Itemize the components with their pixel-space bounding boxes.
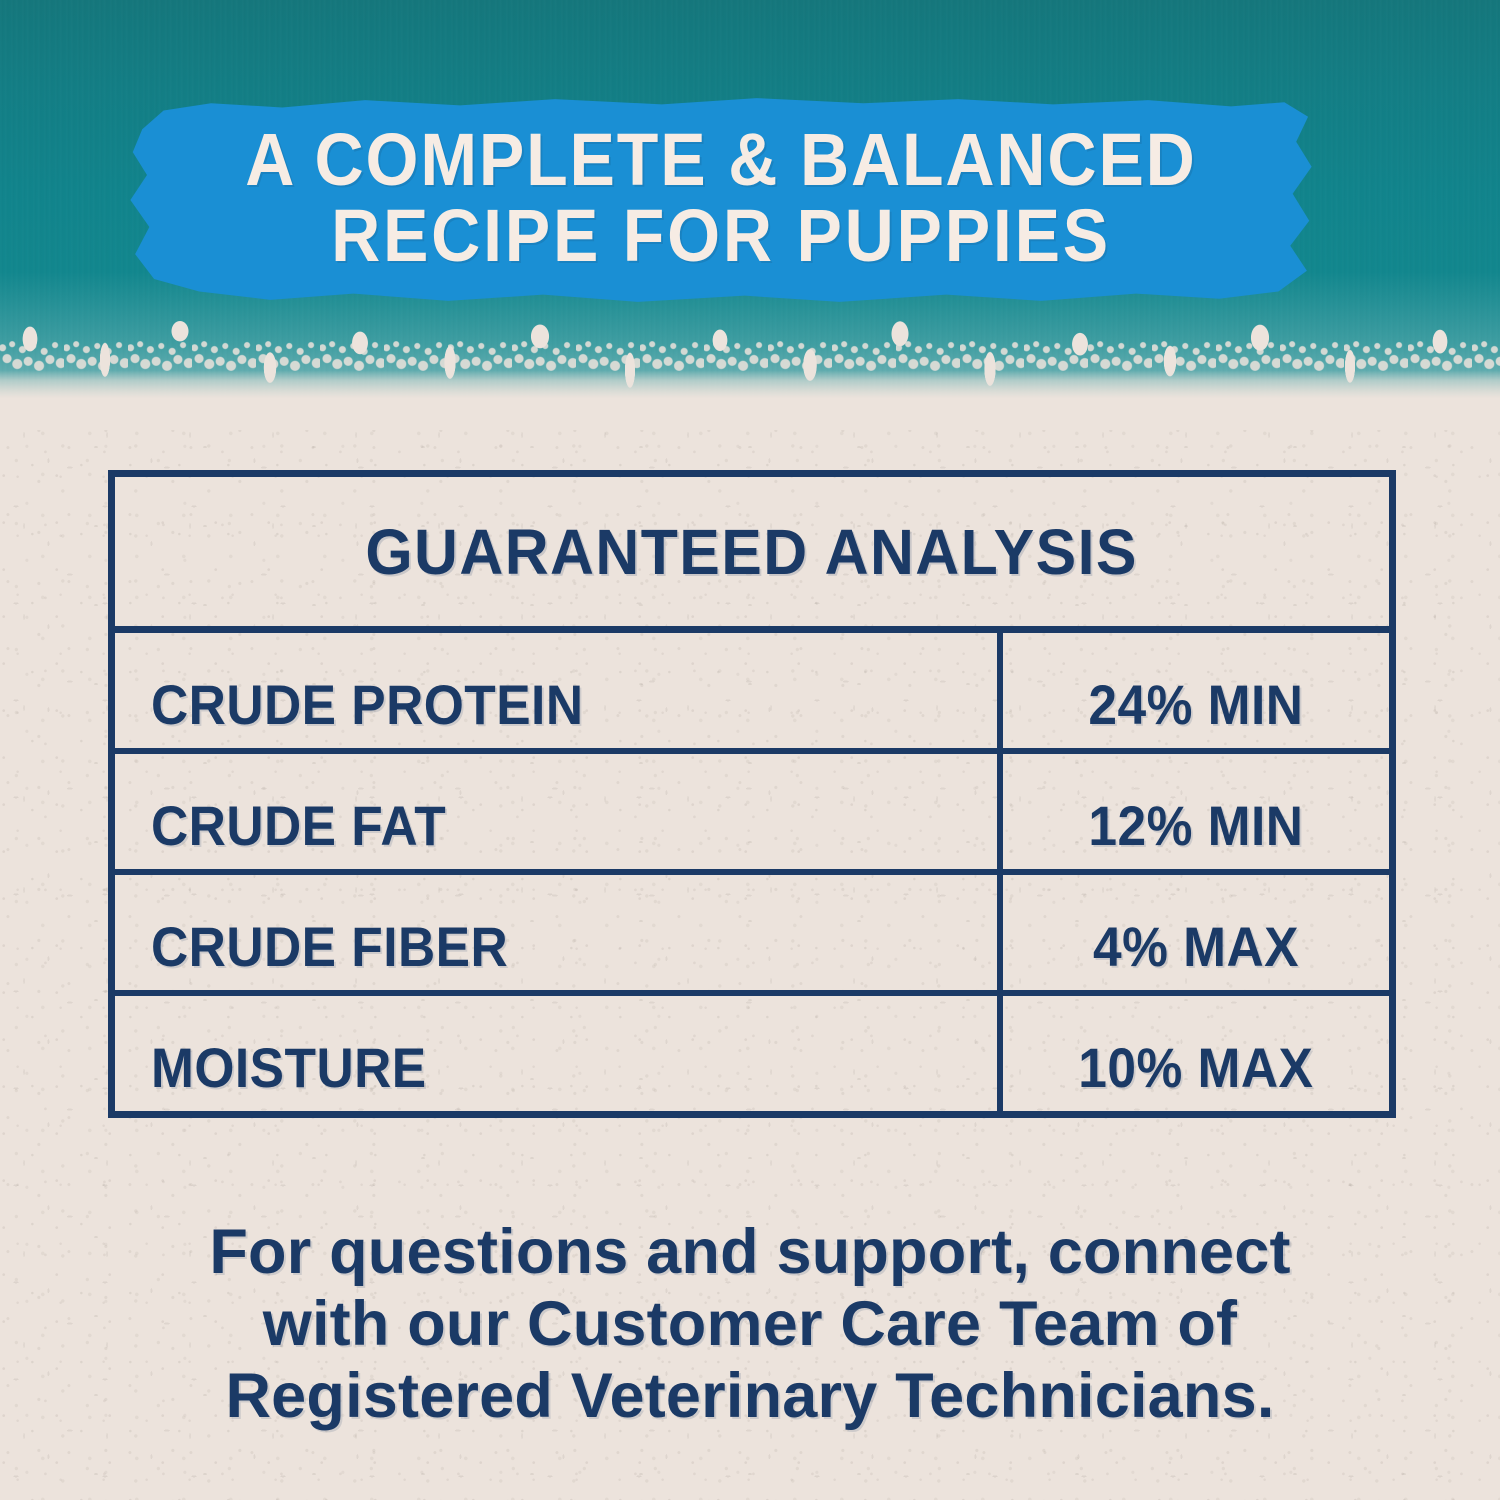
table-row: MOISTURE 10% MAX	[115, 996, 1389, 1111]
product-info-panel: A COMPLETE & BALANCED RECIPE FOR PUPPIES…	[0, 0, 1500, 1500]
nutrient-value: 10% MAX	[1078, 1039, 1313, 1097]
note-line-3: Registered Veterinary Technicians.	[120, 1360, 1380, 1432]
table-title-row: GUARANTEED ANALYSIS	[115, 477, 1389, 633]
nutrient-label: CRUDE FAT	[151, 797, 446, 855]
table-row: CRUDE PROTEIN 24% MIN	[115, 633, 1389, 754]
nutrient-value: 24% MIN	[1088, 676, 1303, 734]
table-cell-amount: 10% MAX	[1003, 996, 1389, 1111]
nutrient-value: 12% MIN	[1088, 797, 1303, 855]
nutrient-value: 4% MAX	[1093, 918, 1299, 976]
headline-line-2: RECIPE FOR PUPPIES	[175, 198, 1266, 274]
customer-care-note: For questions and support, connect with …	[120, 1216, 1380, 1432]
table-row: CRUDE FAT 12% MIN	[115, 754, 1389, 875]
table-row: CRUDE FIBER 4% MAX	[115, 875, 1389, 996]
note-line-1: For questions and support, connect	[120, 1216, 1380, 1288]
headline-line-1: A COMPLETE & BALANCED	[175, 122, 1266, 198]
table-cell-nutrient: CRUDE FAT	[115, 754, 1003, 869]
guaranteed-analysis-table: GUARANTEED ANALYSIS CRUDE PROTEIN 24% MI…	[108, 470, 1396, 1118]
nutrient-label: MOISTURE	[151, 1039, 427, 1097]
table-cell-nutrient: CRUDE PROTEIN	[115, 633, 1003, 748]
teal-band-edge-speckle	[0, 292, 1500, 382]
table-body: CRUDE PROTEIN 24% MIN CRUDE FAT 12% MIN …	[115, 633, 1389, 1111]
note-line-2: with our Customer Care Team of	[120, 1288, 1380, 1360]
table-cell-amount: 24% MIN	[1003, 633, 1389, 748]
nutrient-label: CRUDE PROTEIN	[151, 676, 583, 734]
table-cell-amount: 12% MIN	[1003, 754, 1389, 869]
nutrient-label: CRUDE FIBER	[151, 918, 508, 976]
table-title: GUARANTEED ANALYSIS	[366, 515, 1139, 589]
table-cell-nutrient: CRUDE FIBER	[115, 875, 1003, 990]
table-cell-amount: 4% MAX	[1003, 875, 1389, 990]
headline-banner: A COMPLETE & BALANCED RECIPE FOR PUPPIES	[128, 96, 1314, 304]
headline-text: A COMPLETE & BALANCED RECIPE FOR PUPPIES	[175, 122, 1266, 274]
table-cell-nutrient: MOISTURE	[115, 996, 1003, 1111]
